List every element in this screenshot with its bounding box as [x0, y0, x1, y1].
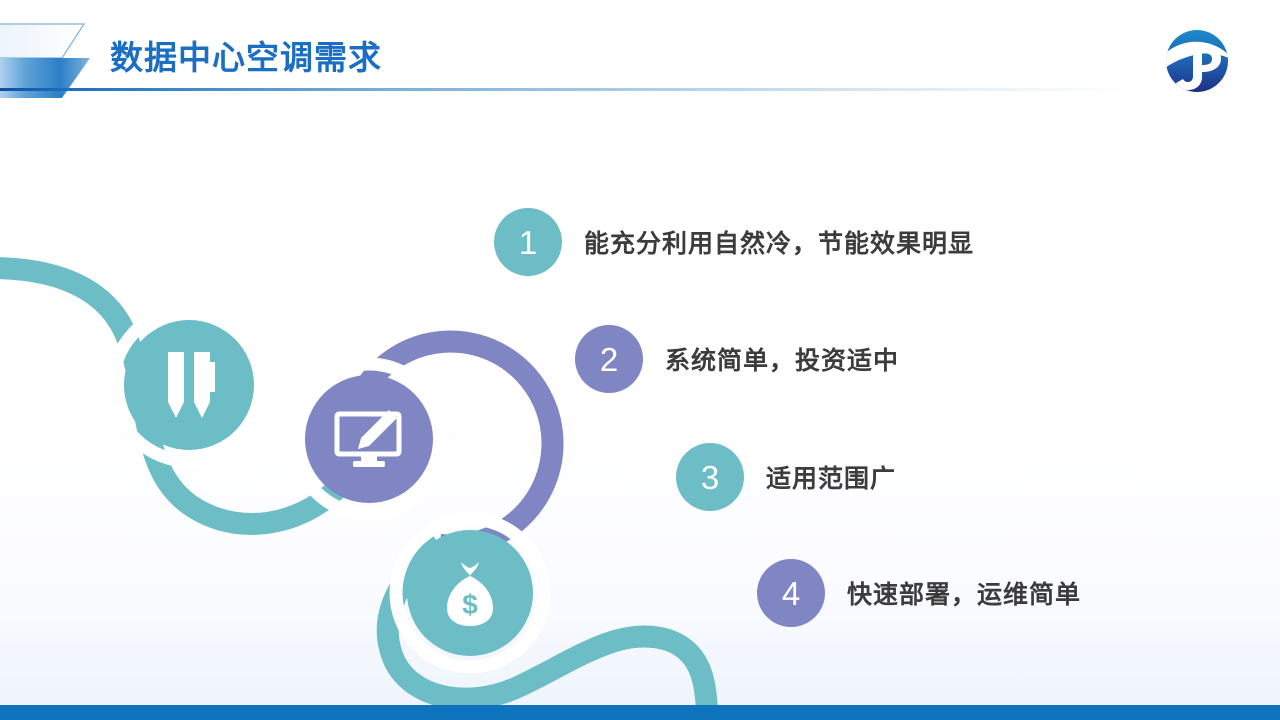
- list-item-number: 4: [757, 559, 825, 627]
- slide: $ 数据中心空调需求: [0, 0, 1280, 720]
- two-pens-icon: [158, 348, 220, 422]
- list-item: 3 适用范围广: [676, 443, 896, 511]
- decor-icon-circle-money: $: [407, 530, 533, 656]
- list-item-number: 3: [676, 443, 744, 511]
- header-ornament-filled-shape: [0, 58, 90, 98]
- list-item-number: 2: [575, 325, 643, 393]
- header-ornament-outline-shape: [0, 24, 84, 58]
- header-rule: [0, 88, 1132, 91]
- company-logo: [1163, 27, 1231, 95]
- list-item: 1 能充分利用自然冷，节能效果明显: [494, 208, 974, 276]
- decor-icon-circle-monitor: [305, 375, 433, 503]
- list-item-label: 快速部署，运维简单: [847, 575, 1081, 611]
- list-item-label: 能充分利用自然冷，节能效果明显: [584, 224, 974, 260]
- list-item-number: 1: [494, 208, 562, 276]
- bottom-accent-bar: [0, 705, 1280, 720]
- list-item-label: 适用范围广: [766, 459, 896, 495]
- decor-icon-circle-pens: [124, 320, 254, 450]
- money-bag-dollar-icon: $: [437, 558, 503, 628]
- svg-text:$: $: [462, 589, 478, 620]
- list-item-label: 系统简单，投资适中: [665, 341, 899, 377]
- list-item: 4 快速部署，运维简单: [757, 559, 1081, 627]
- list-item: 2 系统简单，投资适中: [575, 325, 899, 393]
- monitor-pencil-icon: [333, 408, 405, 470]
- slide-header: 数据中心空调需求: [0, 0, 1280, 104]
- page-title: 数据中心空调需求: [110, 31, 382, 79]
